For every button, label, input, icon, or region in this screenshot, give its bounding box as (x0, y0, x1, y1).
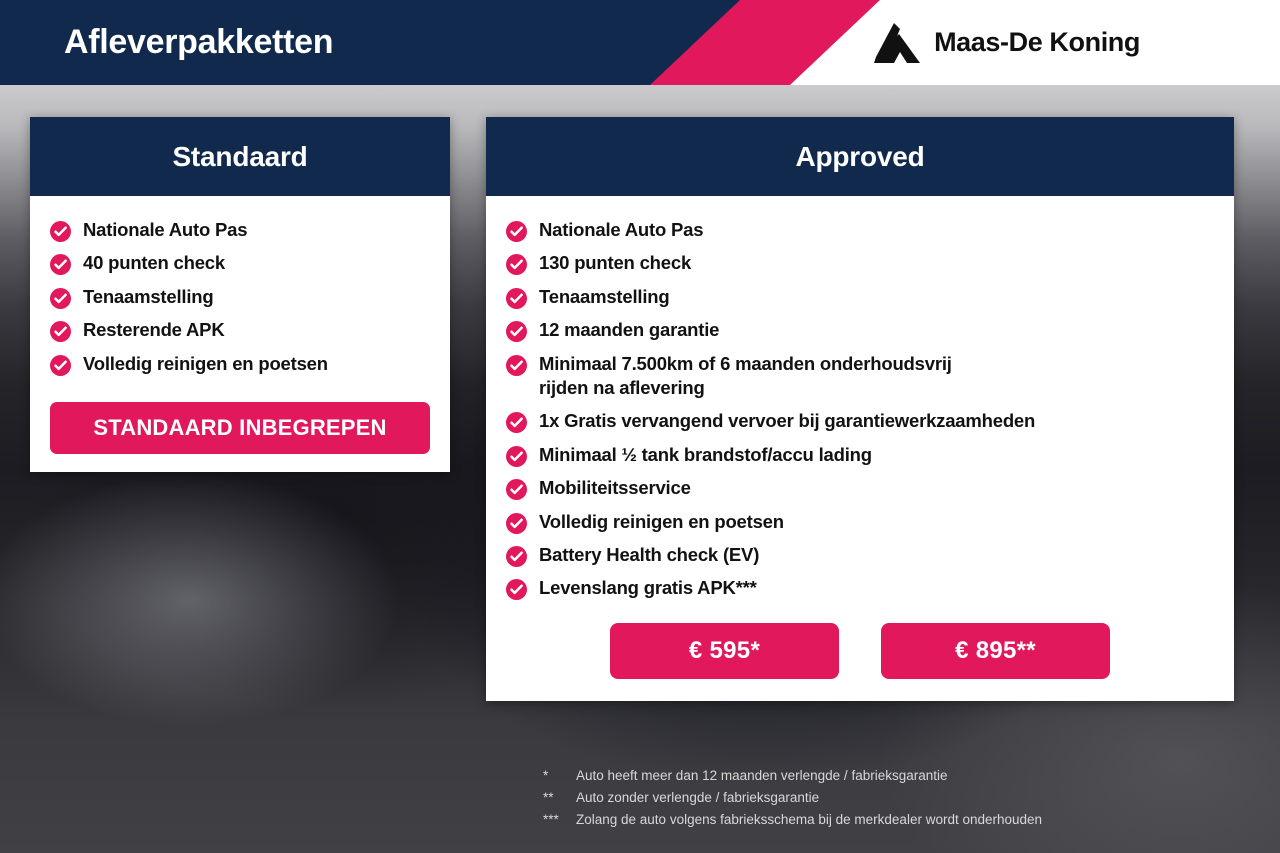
feature-item: Tenaamstelling (506, 285, 1214, 309)
feature-item: Battery Health check (EV) (506, 543, 1214, 567)
standaard-included-button[interactable]: STANDAARD INBEGREPEN (50, 402, 430, 454)
feature-label: Minimaal 7.500km of 6 maanden onderhouds… (539, 352, 952, 401)
card-title-standaard: Standaard (172, 141, 307, 173)
feature-item: Levenslang gratis APK*** (506, 576, 1214, 600)
feature-label-line2: rijden na aflevering (539, 376, 952, 400)
brand-name: Maas-De Koning (934, 27, 1140, 58)
check-circle-icon (506, 412, 527, 433)
feature-label: 130 punten check (539, 251, 691, 275)
feature-item: 130 punten check (506, 251, 1214, 275)
feature-item: 40 punten check (50, 251, 430, 275)
footnotes-block: * Auto heeft meer dan 12 maanden verleng… (543, 765, 1042, 831)
check-circle-icon (50, 254, 71, 275)
page-header: Afleverpakketten Maas-De Koning (0, 0, 1280, 85)
feature-label: Mobiliteitsservice (539, 476, 691, 500)
package-card-approved: Approved Nationale Auto Pas (486, 117, 1234, 701)
page-title: Afleverpakketten (64, 0, 333, 85)
price-button-595[interactable]: € 595* (610, 623, 839, 679)
footnote-marker: *** (543, 809, 576, 831)
feature-label: Nationale Auto Pas (539, 218, 703, 242)
feature-label-line1: Minimaal 7.500km of 6 maanden onderhouds… (539, 353, 952, 374)
price-button-895[interactable]: € 895** (881, 623, 1110, 679)
feature-label: Levenslang gratis APK*** (539, 576, 757, 600)
card-header-standaard: Standaard (30, 117, 450, 196)
check-circle-icon (506, 446, 527, 467)
footnote-marker: ** (543, 787, 576, 809)
check-circle-icon (506, 221, 527, 242)
feature-list-standaard: Nationale Auto Pas 40 punten check (50, 218, 430, 376)
check-circle-icon (506, 479, 527, 500)
feature-label: 40 punten check (83, 251, 225, 275)
page-root: Afleverpakketten Maas-De Koning Standaar… (0, 0, 1280, 853)
card-header-approved: Approved (486, 117, 1234, 196)
check-circle-icon (506, 321, 527, 342)
feature-item: Volledig reinigen en poetsen (50, 352, 430, 376)
check-circle-icon (50, 355, 71, 376)
feature-item: Tenaamstelling (50, 285, 430, 309)
feature-item: Resterende APK (50, 318, 430, 342)
feature-list-approved: Nationale Auto Pas 130 punten check (506, 218, 1214, 601)
feature-label: Tenaamstelling (539, 285, 670, 309)
brand-logo: Maas-De Koning (874, 0, 1140, 85)
feature-item: Minimaal 7.500km of 6 maanden onderhouds… (506, 352, 1214, 401)
maas-de-koning-m-logo-icon (874, 23, 920, 63)
feature-item: 1x Gratis vervangend vervoer bij garanti… (506, 409, 1214, 433)
check-circle-icon (50, 321, 71, 342)
feature-label: 12 maanden garantie (539, 318, 719, 342)
feature-label: Volledig reinigen en poetsen (83, 352, 328, 376)
check-circle-icon (506, 355, 527, 376)
check-circle-icon (506, 546, 527, 567)
feature-item: Volledig reinigen en poetsen (506, 510, 1214, 534)
footnote-text: Zolang de auto volgens fabrieksschema bi… (576, 809, 1042, 831)
feature-item: 12 maanden garantie (506, 318, 1214, 342)
footnote-marker: * (543, 765, 576, 787)
check-circle-icon (506, 513, 527, 534)
feature-label: 1x Gratis vervangend vervoer bij garanti… (539, 409, 1035, 433)
feature-item: Nationale Auto Pas (506, 218, 1214, 242)
check-circle-icon (506, 288, 527, 309)
footnote-item: * Auto heeft meer dan 12 maanden verleng… (543, 765, 1042, 787)
feature-label: Tenaamstelling (83, 285, 214, 309)
check-circle-icon (50, 221, 71, 242)
price-button-row: € 595* € 895** (506, 623, 1214, 679)
feature-label: Nationale Auto Pas (83, 218, 247, 242)
feature-item: Minimaal ½ tank brandstof/accu lading (506, 443, 1214, 467)
feature-item: Nationale Auto Pas (50, 218, 430, 242)
footnote-text: Auto heeft meer dan 12 maanden verlengde… (576, 765, 948, 787)
feature-label: Volledig reinigen en poetsen (539, 510, 784, 534)
feature-label: Resterende APK (83, 318, 224, 342)
check-circle-icon (50, 288, 71, 309)
feature-item: Mobiliteitsservice (506, 476, 1214, 500)
footnote-text: Auto zonder verlengde / fabrieksgarantie (576, 787, 819, 809)
feature-label: Minimaal ½ tank brandstof/accu lading (539, 443, 872, 467)
package-card-standaard: Standaard Nationale Auto Pas (30, 117, 450, 472)
check-circle-icon (506, 579, 527, 600)
footnote-item: ** Auto zonder verlengde / fabrieksgaran… (543, 787, 1042, 809)
check-circle-icon (506, 254, 527, 275)
card-body-approved: Nationale Auto Pas 130 punten check (486, 196, 1234, 701)
feature-label: Battery Health check (EV) (539, 543, 759, 567)
card-body-standaard: Nationale Auto Pas 40 punten check (30, 196, 450, 472)
card-title-approved: Approved (795, 141, 924, 173)
footnote-item: *** Zolang de auto volgens fabrieksschem… (543, 809, 1042, 831)
